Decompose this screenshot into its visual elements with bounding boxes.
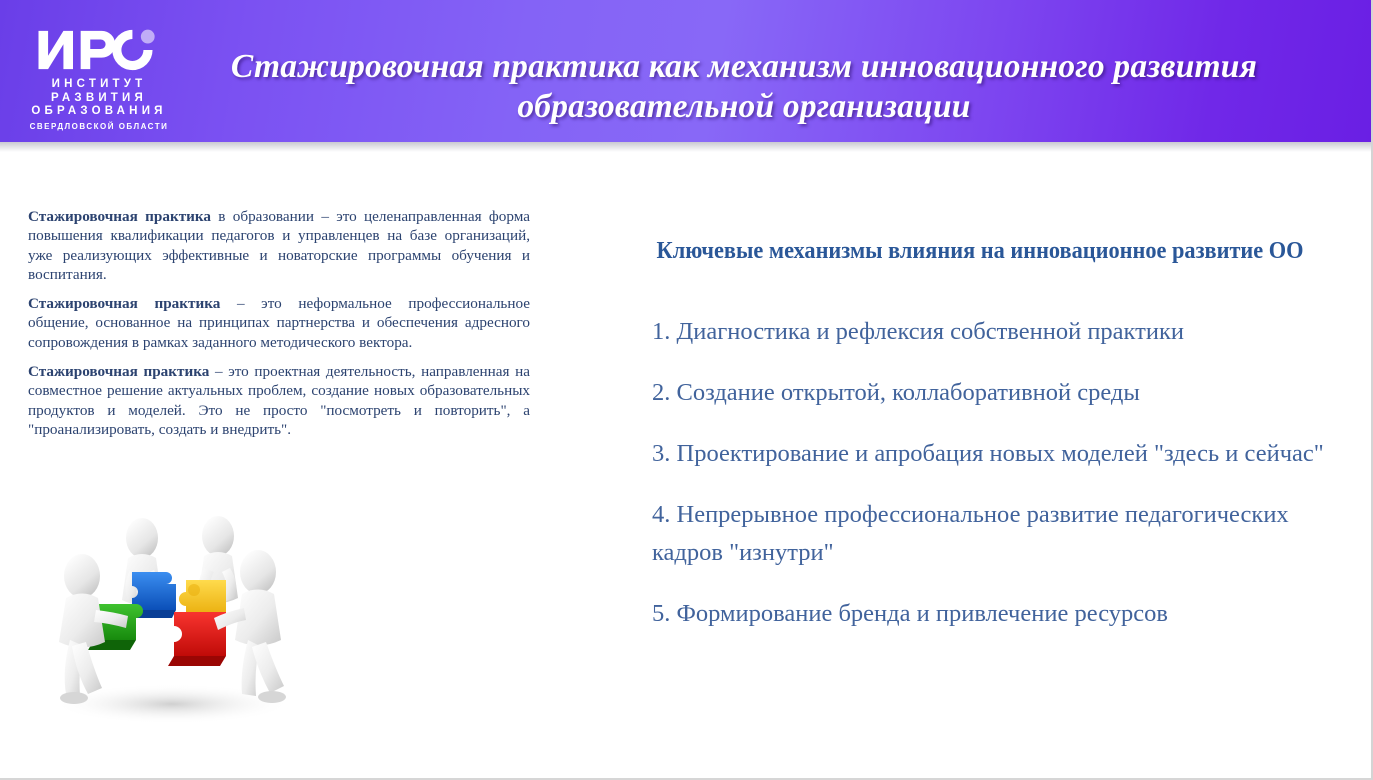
- definition-paragraph: Стажировочная практика в образовании – э…: [28, 207, 530, 284]
- presentation-slide: ИНСТИТУТ РАЗВИТИЯ ОБРАЗОВАНИЯ СВЕРДЛОВСК…: [0, 0, 1373, 780]
- mechanisms-list: 1. Диагностика и рефлексия собственной п…: [600, 313, 1360, 633]
- mechanism-item: 4. Непрерывное профессиональное развитие…: [600, 496, 1360, 572]
- iro-logo: ИНСТИТУТ РАЗВИТИЯ ОБРАЗОВАНИЯ СВЕРДЛОВСК…: [24, 27, 174, 133]
- mechanism-item: 3. Проектирование и апробация новых моде…: [600, 435, 1360, 473]
- logo-line-region: СВЕРДЛОВСКОЙ ОБЛАСТИ: [24, 121, 174, 133]
- definition-lead-term: Стажировочная практика: [28, 208, 211, 225]
- mechanisms-heading: Ключевые механизмы влияния на инновацион…: [627, 236, 1334, 267]
- iro-logo-mark-icon: [27, 27, 171, 73]
- logo-line-education: ОБРАЗОВАНИЯ: [24, 105, 174, 119]
- definitions-column: Стажировочная практика в образовании – э…: [28, 207, 530, 449]
- header-divider-shadow: [0, 142, 1373, 152]
- mechanism-item: 2. Создание открытой, коллаборативной ср…: [600, 374, 1360, 412]
- mechanism-item: 5. Формирование бренда и привлечение рес…: [600, 595, 1360, 633]
- definition-paragraph: Стажировочная практика – это проектная д…: [28, 362, 530, 439]
- mechanism-item: 1. Диагностика и рефлексия собственной п…: [600, 313, 1360, 351]
- definition-paragraph: Стажировочная практика – это неформально…: [28, 294, 530, 352]
- definition-lead-term: Стажировочная практика: [28, 363, 209, 380]
- slide-title: Стажировочная практика как механизм инно…: [196, 47, 1292, 127]
- mechanisms-column: Ключевые механизмы влияния на инновацион…: [600, 236, 1360, 633]
- logo-line-institute: ИНСТИТУТ: [24, 78, 174, 92]
- definition-lead-term: Стажировочная практика: [28, 295, 220, 312]
- teamwork-puzzle-illustration: [22, 498, 322, 738]
- teamwork-puzzle-icon: [22, 498, 322, 738]
- logo-line-development: РАЗВИТИЯ: [24, 92, 174, 106]
